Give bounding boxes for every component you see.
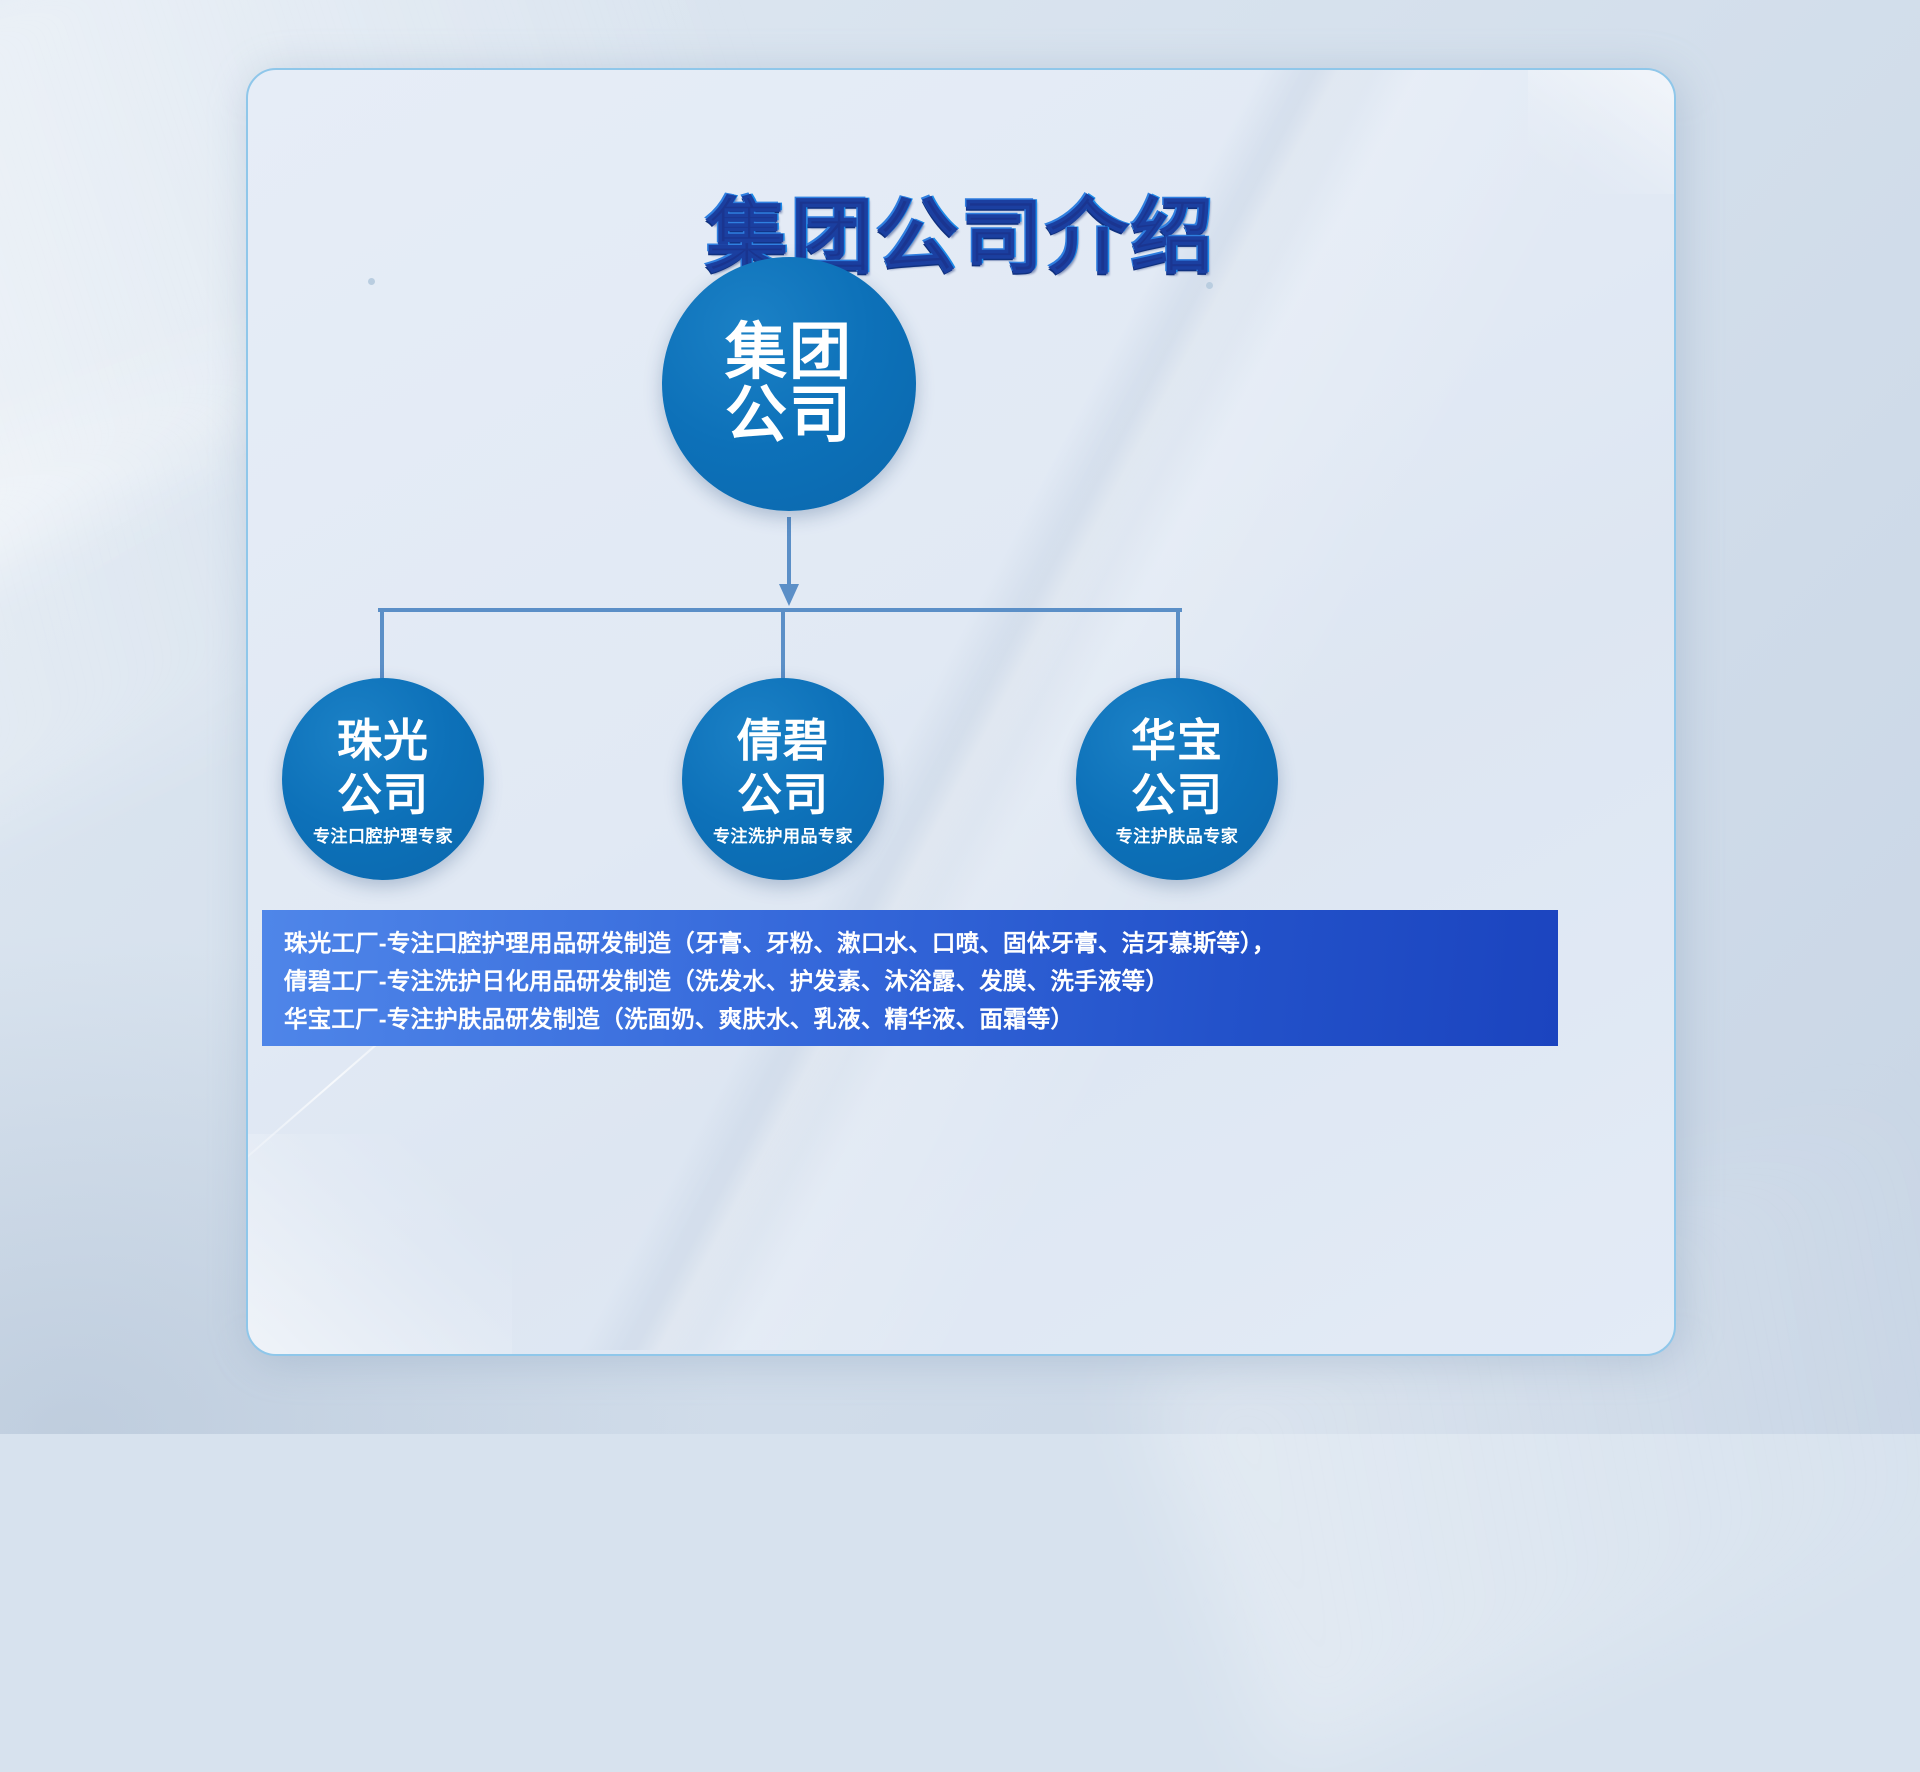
org-node-child-1-subtitle: 专注洗护用品专家 — [713, 822, 853, 847]
infographic-card: 集团公司介绍 集团 公司 珠光 公司 专注口腔护理专家 倩碧 公司 专注洗护用品… — [246, 68, 1676, 1356]
org-node-child-0-label-line1: 珠光 — [337, 717, 429, 765]
org-node-root-label-line2: 公司 — [725, 384, 853, 447]
org-node-root[interactable]: 集团 公司 — [662, 257, 916, 511]
description-line-1: 珠光工厂-专注口腔护理用品研发制造（牙膏、牙粉、漱口水、口喷、固体牙膏、洁牙慕斯… — [284, 924, 1540, 962]
description-note-box: 珠光工厂-专注口腔护理用品研发制造（牙膏、牙粉、漱口水、口喷、固体牙膏、洁牙慕斯… — [262, 910, 1558, 1046]
org-node-child-2-subtitle: 专注护肤品专家 — [1116, 822, 1239, 847]
org-node-child-zhuguang[interactable]: 珠光 公司 专注口腔护理专家 — [282, 678, 484, 880]
org-node-child-1-label-line2: 公司 — [737, 771, 829, 819]
org-node-child-qingbi[interactable]: 倩碧 公司 专注洗护用品专家 — [682, 678, 884, 880]
org-node-child-1-label-line1: 倩碧 — [737, 717, 829, 765]
description-line-2: 倩碧工厂-专注洗护日化用品研发制造（洗发水、护发素、沐浴露、发膜、洗手液等） — [284, 962, 1540, 1000]
connector-arrowhead — [779, 584, 799, 606]
org-node-child-huabao[interactable]: 华宝 公司 专注护肤品专家 — [1076, 678, 1278, 880]
description-line-3: 华宝工厂-专注护肤品研发制造（洗面奶、爽肤水、乳液、精华液、面霜等） — [284, 1000, 1540, 1038]
org-chart-connectors — [248, 70, 1676, 1356]
org-node-root-label-line1: 集团 — [725, 321, 853, 384]
org-node-child-0-label-line2: 公司 — [337, 771, 429, 819]
org-node-child-2-label-line1: 华宝 — [1131, 717, 1223, 765]
org-node-child-0-subtitle: 专注口腔护理专家 — [313, 822, 453, 847]
org-node-child-2-label-line2: 公司 — [1131, 771, 1223, 819]
